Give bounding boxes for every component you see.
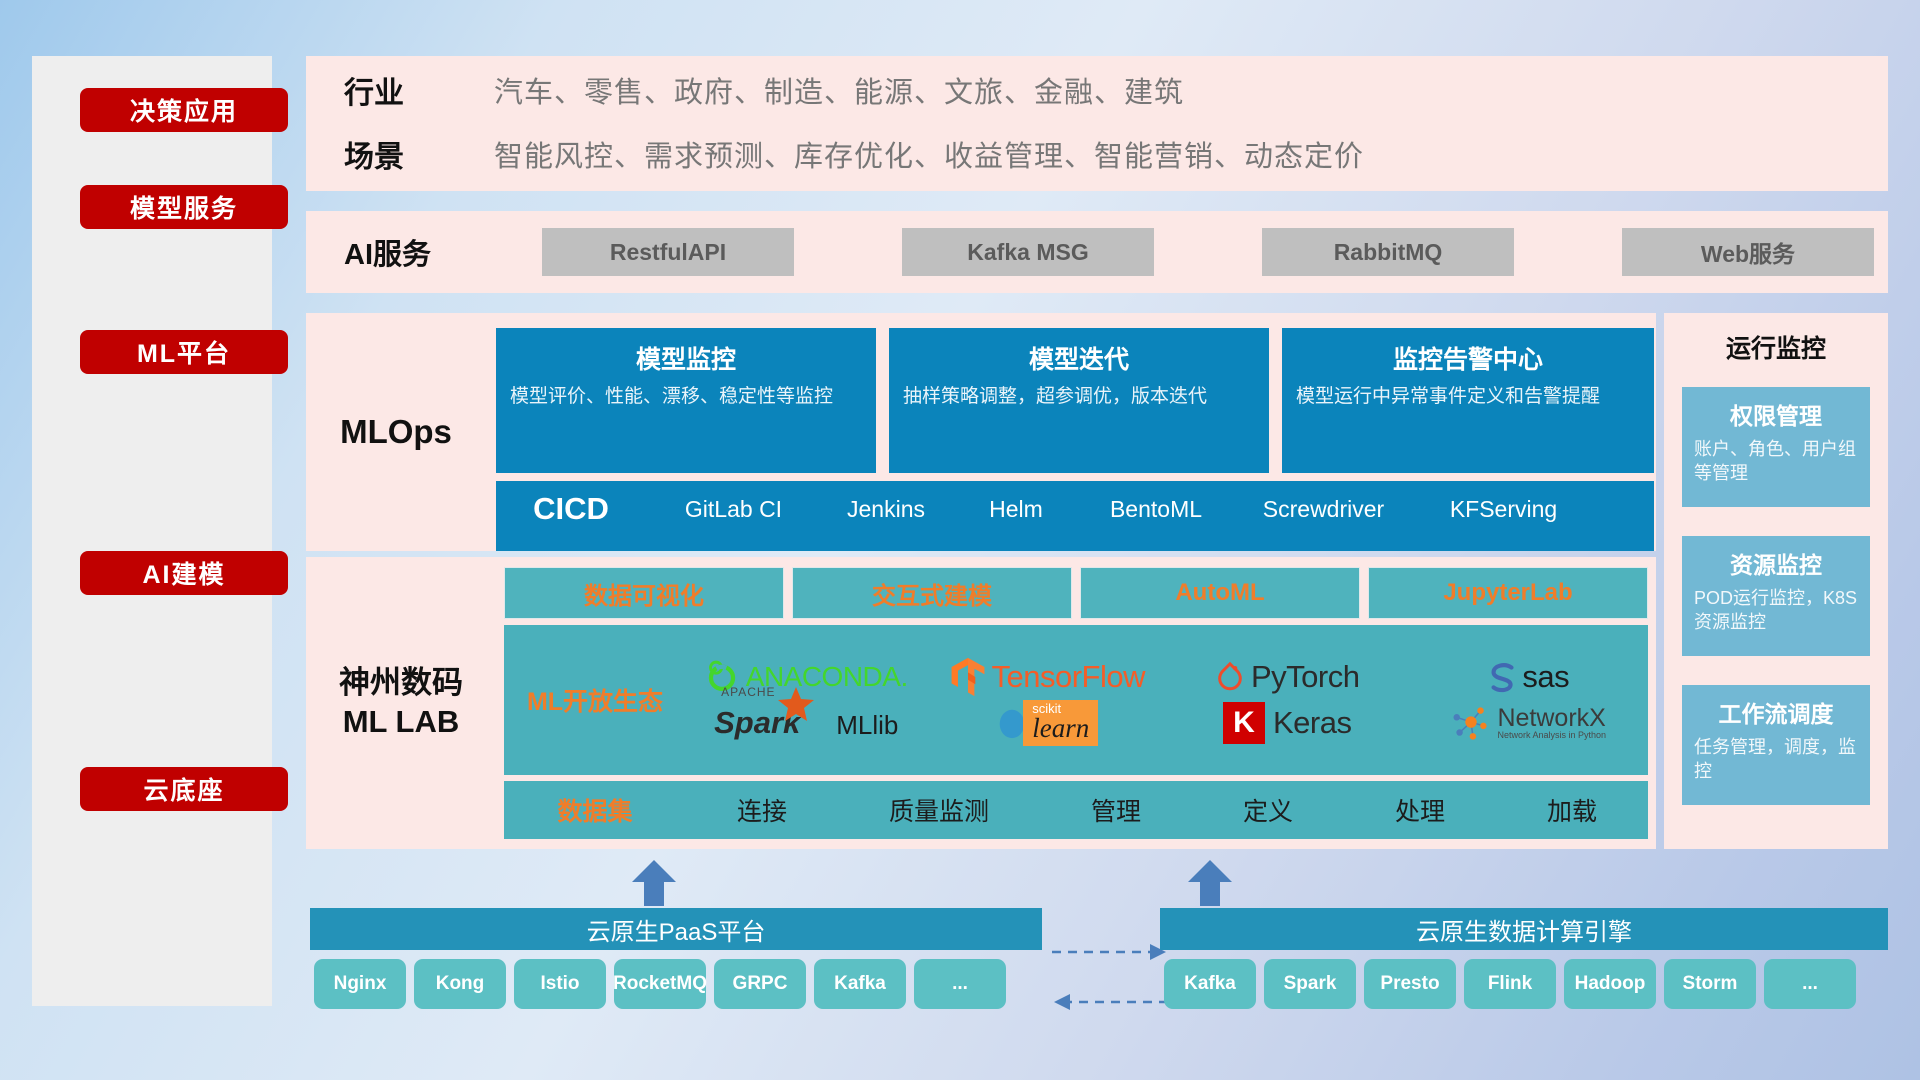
- cicd-item-helm[interactable]: Helm: [951, 481, 1081, 524]
- foundation-tile-grpc[interactable]: GRPC: [714, 959, 806, 1009]
- scikit-learn-logo: scikit learn: [927, 700, 1168, 746]
- foundation-tile-more[interactable]: ...: [914, 959, 1006, 1009]
- engine-tile-spark[interactable]: Spark: [1264, 959, 1356, 1009]
- cicd-item-jenkins[interactable]: Jenkins: [821, 481, 951, 524]
- tile-label: GRPC: [733, 973, 788, 995]
- chip-label: Kafka MSG: [967, 239, 1088, 266]
- networkx-logo: NetworkX Network Analysis in Python: [1408, 703, 1649, 743]
- mllib-wordmark: MLlib: [836, 710, 898, 741]
- ml-lab-tab-data-visualization[interactable]: 数据可视化: [504, 567, 784, 619]
- tile-label: Istio: [540, 973, 579, 995]
- tile-label: Storm: [1683, 973, 1738, 995]
- tile-label: ...: [952, 973, 968, 995]
- tab-label: 数据可视化: [584, 576, 704, 611]
- tile-label: Kafka: [1184, 973, 1236, 995]
- spark-star-icon: [776, 685, 816, 723]
- scene-values: 智能风控、需求预测、库存优化、收益管理、智能营销、动态定价: [494, 133, 1364, 175]
- chip-label: Web服务: [1701, 235, 1795, 269]
- mlops-band: MLOps 模型监控 模型评价、性能、漂移、稳定性等监控 模型迭代 抽样策略调整…: [306, 313, 1656, 551]
- mlops-card-alert-center[interactable]: 监控告警中心 模型运行中异常事件定义和告警提醒: [1282, 328, 1654, 473]
- rail-tag-ai-modeling[interactable]: AI建模: [80, 551, 288, 595]
- learn-label: learn: [1032, 715, 1089, 742]
- card-desc: 模型运行中异常事件定义和告警提醒: [1296, 384, 1640, 410]
- ai-service-chip-rabbitmq[interactable]: RabbitMQ: [1262, 228, 1514, 276]
- cicd-item-bentoml[interactable]: BentoML: [1081, 481, 1231, 524]
- rail-tag-decision[interactable]: 决策应用: [80, 88, 288, 132]
- arrow-up-left-icon: [630, 858, 678, 906]
- tensorflow-logo: TensorFlow: [927, 656, 1168, 698]
- foundation-tile-kong[interactable]: Kong: [414, 959, 506, 1009]
- industry-label: 行业: [306, 68, 494, 112]
- scikit-learn-wordmark: scikit learn: [1023, 700, 1098, 746]
- run-monitor-panel: 运行监控 权限管理 账户、角色、用户组等管理 资源监控 POD运行监控，K8S资…: [1664, 313, 1888, 849]
- ml-lab-band: 神州数码 ML LAB 数据可视化 交互式建模 AutoML JupyterLa…: [306, 557, 1656, 849]
- keras-mark-icon: K: [1223, 702, 1265, 744]
- ai-service-band: AI服务 RestfulAPI Kafka MSG RabbitMQ Web服务: [306, 211, 1888, 293]
- tile-label: RocketMQ: [613, 973, 707, 995]
- tile-label: Spark: [1284, 973, 1337, 995]
- rail-tag-label: ML平台: [137, 334, 231, 370]
- sas-mark-icon: [1486, 660, 1520, 694]
- keras-wordmark: Keras: [1273, 705, 1351, 741]
- tab-label: AutoML: [1175, 579, 1264, 607]
- rail-tag-ml-platform[interactable]: ML平台: [80, 330, 288, 374]
- card-title: 工作流调度: [1694, 695, 1858, 729]
- foundation-tile-rocketmq[interactable]: RocketMQ: [614, 959, 706, 1009]
- ml-lab-tab-jupyterlab[interactable]: JupyterLab: [1368, 567, 1648, 619]
- run-monitor-card-resource[interactable]: 资源监控 POD运行监控，K8S资源监控: [1682, 536, 1870, 656]
- tile-label: Presto: [1380, 973, 1439, 995]
- card-desc: 模型评价、性能、漂移、稳定性等监控: [510, 384, 862, 410]
- foundation-tile-istio[interactable]: Istio: [514, 959, 606, 1009]
- foundation-left-group: 云原生PaaS平台 Nginx Kong Istio RocketMQ GRPC…: [310, 908, 1042, 1018]
- chip-label: RabbitMQ: [1334, 239, 1443, 266]
- tile-label: Nginx: [334, 973, 387, 995]
- ai-service-chip-restfulapi[interactable]: RestfulAPI: [542, 228, 794, 276]
- mlops-label: MLOps: [306, 313, 486, 551]
- rail-tag-label: 云底座: [143, 771, 224, 807]
- keras-logo: K Keras: [1167, 702, 1408, 744]
- tile-label: Hadoop: [1575, 973, 1646, 995]
- cicd-item-label: GitLab CI: [685, 496, 782, 522]
- mlops-card-model-monitoring[interactable]: 模型监控 模型评价、性能、漂移、稳定性等监控: [496, 328, 876, 473]
- dataset-item-load[interactable]: 加载: [1547, 792, 1597, 828]
- networkx-tagline: Network Analysis in Python: [1497, 731, 1606, 740]
- cicd-item-label: BentoML: [1110, 496, 1202, 522]
- data-engine-title: 云原生数据计算引擎: [1416, 912, 1632, 947]
- foundation-tile-nginx[interactable]: Nginx: [314, 959, 406, 1009]
- engine-tile-hadoop[interactable]: Hadoop: [1564, 959, 1656, 1009]
- dataset-item-process[interactable]: 处理: [1395, 792, 1445, 828]
- ml-lab-label-line2: ML LAB: [343, 703, 460, 742]
- engine-tile-more[interactable]: ...: [1764, 959, 1856, 1009]
- card-title: 资源监控: [1694, 546, 1858, 580]
- run-monitor-card-permission[interactable]: 权限管理 账户、角色、用户组等管理: [1682, 387, 1870, 507]
- card-desc: 账户、角色、用户组等管理: [1694, 437, 1858, 486]
- sas-logo: sas: [1408, 659, 1649, 695]
- spark-apache-label: APACHE: [721, 685, 775, 699]
- rail-tag-label: 模型服务: [130, 189, 238, 225]
- scene-label: 场景: [306, 132, 494, 176]
- keras-mark-letter: K: [1233, 706, 1255, 740]
- bidirectional-link-icon: [1050, 940, 1170, 1020]
- ml-ecosystem-title: ML开放生态: [527, 688, 663, 716]
- dataset-item-connect[interactable]: 连接: [737, 792, 787, 828]
- sas-wordmark: sas: [1522, 659, 1569, 695]
- dataset-label: 数据集: [557, 798, 632, 826]
- engine-tile-kafka[interactable]: Kafka: [1164, 959, 1256, 1009]
- card-desc: POD运行监控，K8S资源监控: [1694, 586, 1858, 635]
- business-band: 行业 汽车、零售、政府、制造、能源、文旅、金融、建筑 场景 智能风控、需求预测、…: [306, 56, 1888, 191]
- mlops-cicd-row: CICD GitLab CI Jenkins Helm BentoML Scre…: [496, 481, 1654, 551]
- pytorch-wordmark: PyTorch: [1251, 659, 1359, 695]
- tile-label: ...: [1802, 973, 1818, 995]
- tile-label: Flink: [1488, 973, 1532, 995]
- ml-lab-tab-interactive-modeling[interactable]: 交互式建模: [792, 567, 1072, 619]
- cicd-item-kfserving[interactable]: KFServing: [1416, 481, 1591, 524]
- cicd-item-gitlab-ci[interactable]: GitLab CI: [646, 481, 821, 524]
- cicd-item-screwdriver[interactable]: Screwdriver: [1231, 481, 1416, 524]
- ml-lab-label-line1: 神州数码: [339, 664, 463, 703]
- run-monitor-card-workflow[interactable]: 工作流调度 任务管理，调度，监控: [1682, 685, 1870, 805]
- cicd-label: CICD: [496, 481, 646, 527]
- ai-service-chip-web-service[interactable]: Web服务: [1622, 228, 1874, 276]
- card-desc: 抽样策略调整，超参调优，版本迭代: [903, 384, 1255, 410]
- paas-platform-bar: 云原生PaaS平台: [310, 908, 1042, 950]
- card-desc: 任务管理，调度，监控: [1694, 735, 1858, 784]
- ai-service-label: AI服务: [306, 231, 484, 273]
- foundation-right-group: 云原生数据计算引擎 Kafka Spark Presto Flink Hadoo…: [1160, 908, 1888, 1018]
- chip-label: RestfulAPI: [610, 239, 726, 266]
- engine-tile-flink[interactable]: Flink: [1464, 959, 1556, 1009]
- card-title: 模型迭代: [903, 340, 1255, 376]
- tensorflow-wordmark: TensorFlow: [992, 659, 1146, 695]
- business-row-scene: 场景 智能风控、需求预测、库存优化、收益管理、智能营销、动态定价: [306, 123, 1888, 185]
- networkx-wordmark: NetworkX: [1497, 706, 1606, 731]
- dataset-item-define[interactable]: 定义: [1243, 792, 1293, 828]
- cicd-item-label: Helm: [989, 496, 1043, 522]
- cicd-item-label: Jenkins: [847, 496, 925, 522]
- dataset-item-manage[interactable]: 管理: [1091, 792, 1141, 828]
- business-row-industry: 行业 汽车、零售、政府、制造、能源、文旅、金融、建筑: [306, 56, 1888, 123]
- tensorflow-mark-icon: [949, 656, 987, 698]
- tile-label: Kong: [436, 973, 485, 995]
- run-monitor-title: 运行监控: [1664, 329, 1888, 365]
- dataset-row: 数据集 连接 质量监测 管理 定义 处理 加载: [504, 781, 1648, 839]
- cicd-item-label: Screwdriver: [1263, 496, 1384, 522]
- spark-mllib-logo: APACHE Spark MLlib: [686, 705, 927, 741]
- tile-label: Kafka: [834, 973, 886, 995]
- tab-label: 交互式建模: [872, 576, 992, 611]
- tab-label: JupyterLab: [1443, 579, 1572, 607]
- cicd-item-label: KFServing: [1450, 496, 1557, 522]
- rail-tag-model-service[interactable]: 模型服务: [80, 185, 288, 229]
- pytorch-mark-icon: [1215, 659, 1245, 695]
- card-title: 模型监控: [510, 340, 862, 376]
- foundation-tile-kafka[interactable]: Kafka: [814, 959, 906, 1009]
- mlops-card-model-iteration[interactable]: 模型迭代 抽样策略调整，超参调优，版本迭代: [889, 328, 1269, 473]
- card-title: 权限管理: [1694, 397, 1858, 431]
- arrow-up-right-icon: [1186, 858, 1234, 906]
- rail-tag-label: AI建模: [142, 555, 225, 591]
- ml-ecosystem-panel: ML开放生态 ANACONDA.: [504, 625, 1648, 775]
- engine-tile-presto[interactable]: Presto: [1364, 959, 1456, 1009]
- rail-tag-label: 决策应用: [130, 92, 238, 128]
- card-title: 监控告警中心: [1296, 340, 1640, 376]
- rail-tag-cloud-base[interactable]: 云底座: [80, 767, 288, 811]
- ai-service-chip-kafka-msg[interactable]: Kafka MSG: [902, 228, 1154, 276]
- architecture-diagram: 决策应用 模型服务 ML平台 AI建模 云底座 行业 汽车、零售、政府、制造、能…: [0, 0, 1920, 1080]
- left-rail: 决策应用 模型服务 ML平台 AI建模 云底座: [32, 56, 272, 1006]
- ml-lab-label: 神州数码 ML LAB: [306, 557, 496, 849]
- industry-values: 汽车、零售、政府、制造、能源、文旅、金融、建筑: [494, 69, 1184, 111]
- paas-platform-title: 云原生PaaS平台: [587, 912, 766, 947]
- ml-lab-tab-automl[interactable]: AutoML: [1080, 567, 1360, 619]
- data-engine-bar: 云原生数据计算引擎: [1160, 908, 1888, 950]
- networkx-mark-icon: [1449, 703, 1493, 743]
- engine-tile-storm[interactable]: Storm: [1664, 959, 1756, 1009]
- dataset-item-quality-monitoring[interactable]: 质量监测: [889, 792, 989, 828]
- pytorch-logo: PyTorch: [1167, 659, 1408, 695]
